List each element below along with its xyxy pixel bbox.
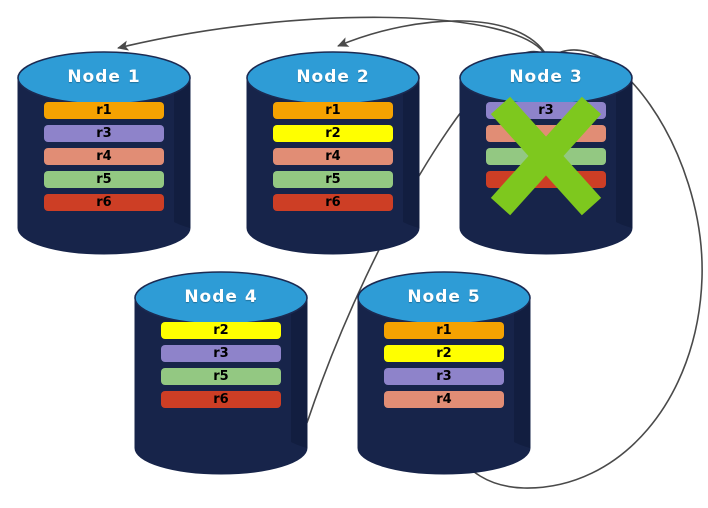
replica-bar[interactable] xyxy=(486,125,606,142)
replica-bar[interactable]: r6 xyxy=(273,194,393,211)
node-1-label: Node 1 xyxy=(18,67,190,87)
node-5[interactable]: Node 5r1r2r3r4 xyxy=(358,272,530,482)
cylinder-shade xyxy=(616,78,632,228)
cylinder-shade xyxy=(174,78,190,228)
replica-bar[interactable]: r5 xyxy=(273,171,393,188)
node-1[interactable]: Node 1r1r3r4r5r6 xyxy=(18,52,190,262)
node-4-label: Node 4 xyxy=(135,287,307,307)
node-5-label: Node 5 xyxy=(358,287,530,307)
node-4[interactable]: Node 4r2r3r5r6 xyxy=(135,272,307,482)
replica-bar[interactable]: r2 xyxy=(161,322,281,339)
replica-bar[interactable]: r1 xyxy=(44,102,164,119)
replica-bar[interactable]: r2 xyxy=(384,345,504,362)
replica-bar[interactable]: r4 xyxy=(273,148,393,165)
replica-bar[interactable]: r2 xyxy=(273,125,393,142)
arrow-node3-to-node1 xyxy=(118,17,546,56)
cylinder-shade xyxy=(403,78,419,228)
replica-bar[interactable]: r3 xyxy=(486,102,606,119)
node-3-label: Node 3 xyxy=(460,67,632,87)
replica-bar[interactable]: r5 xyxy=(161,368,281,385)
node-2[interactable]: Node 2r1r2r4r5r6 xyxy=(247,52,419,262)
cylinder-shade xyxy=(291,298,307,448)
diagram-canvas: Node 1r1r3r4r5r6Node 2r1r2r4r5r6Node 3r3… xyxy=(0,0,708,508)
node-3[interactable]: Node 3r3 xyxy=(460,52,632,262)
replica-bar[interactable]: r5 xyxy=(44,171,164,188)
replica-bar[interactable]: r6 xyxy=(44,194,164,211)
replica-bar[interactable] xyxy=(486,171,606,188)
replica-bar[interactable]: r3 xyxy=(161,345,281,362)
node-2-label: Node 2 xyxy=(247,67,419,87)
replica-bar[interactable]: r4 xyxy=(44,148,164,165)
replica-bar[interactable]: r6 xyxy=(161,391,281,408)
replica-bar[interactable]: r1 xyxy=(273,102,393,119)
cylinder-shade xyxy=(514,298,530,448)
arrow-node3-to-node2 xyxy=(338,21,547,56)
replica-bar[interactable]: r3 xyxy=(44,125,164,142)
replica-bar[interactable]: r1 xyxy=(384,322,504,339)
replica-bar[interactable] xyxy=(486,148,606,165)
replica-bar[interactable]: r3 xyxy=(384,368,504,385)
replica-bar[interactable]: r4 xyxy=(384,391,504,408)
